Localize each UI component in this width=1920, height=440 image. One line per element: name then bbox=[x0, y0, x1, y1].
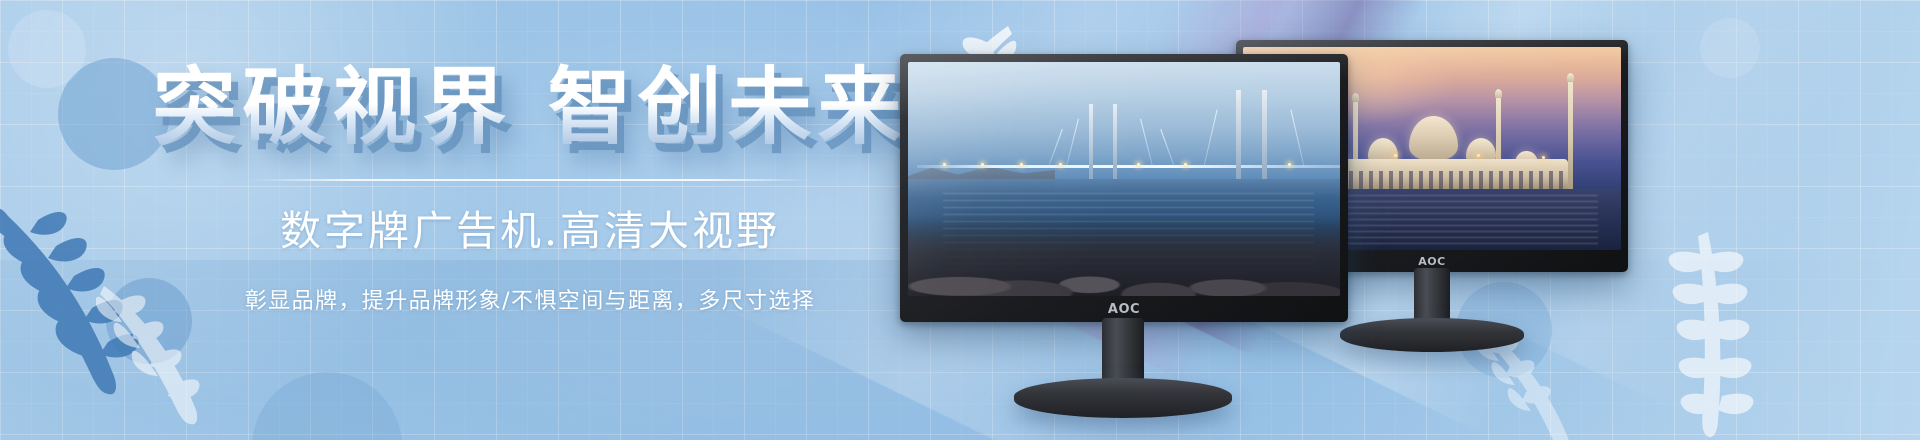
promo-banner: 突破视界 智创未来 数字牌广告机.高清大视野 彰显品牌，提升品牌形象/不惧空间与… bbox=[0, 0, 1920, 440]
mosque-lamp-4 bbox=[1542, 156, 1545, 159]
bridge-deck bbox=[917, 165, 1340, 168]
monitor-left-screen bbox=[908, 62, 1340, 296]
bridge-pylon-2 bbox=[1113, 104, 1117, 179]
minaret-4 bbox=[1568, 80, 1573, 190]
bridge-pylon-4 bbox=[1262, 90, 1267, 179]
monitor-left-stand-base bbox=[1014, 378, 1232, 418]
monitor-left-bezel: AOC bbox=[900, 54, 1348, 322]
bridge-lamp-5 bbox=[1137, 163, 1140, 166]
bridge-lamp-4 bbox=[1059, 163, 1062, 166]
bridge-lamp-1 bbox=[943, 163, 946, 166]
bridge-lamp-7 bbox=[1288, 163, 1291, 166]
monitor-left-logo: AOC bbox=[1108, 302, 1140, 317]
monitor-right-stand-base bbox=[1340, 318, 1524, 352]
product-image-group: AOC bbox=[0, 0, 1920, 440]
bridge-pylon-3 bbox=[1236, 90, 1241, 179]
bridge-pylon-1 bbox=[1089, 104, 1093, 179]
mosque-lamp-2 bbox=[1394, 154, 1397, 157]
rocky-shore bbox=[908, 216, 1340, 296]
monitor-right-logo: AOC bbox=[1418, 255, 1445, 268]
